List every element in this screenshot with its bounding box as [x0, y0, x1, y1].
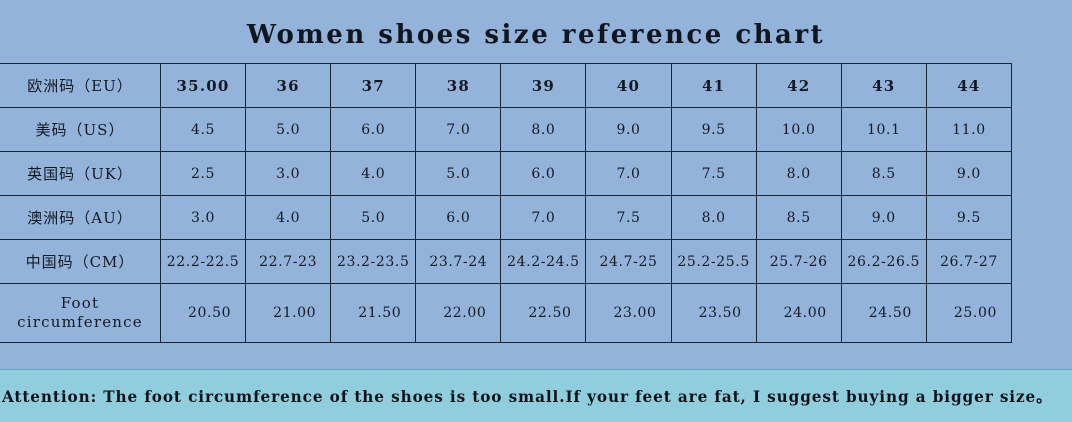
cell-uk-7: 7.5 [671, 152, 756, 196]
cell-au-10: 9.5 [926, 196, 1011, 240]
attention-notice-bar: Attention: The foot circumference of the… [0, 369, 1072, 422]
cell-cm-2: 22.7-23 [246, 240, 331, 284]
cell-cm-3: 23.2-23.5 [331, 240, 416, 284]
cell-circ-9: 24.50 [841, 284, 926, 343]
cell-us-10: 11.0 [926, 108, 1011, 152]
row-label-us: 美码（US） [0, 108, 161, 152]
cell-uk-5: 6.0 [501, 152, 586, 196]
cell-cm-6: 24.7-25 [586, 240, 671, 284]
row-label-eu: 欧洲码（EU） [0, 64, 161, 108]
cell-us-1: 4.5 [161, 108, 246, 152]
cell-us-5: 8.0 [501, 108, 586, 152]
cell-cm-8: 25.7-26 [756, 240, 841, 284]
cell-eu-4: 38 [416, 64, 501, 108]
cell-eu-9: 43 [841, 64, 926, 108]
cell-circ-6: 23.00 [586, 284, 671, 343]
cell-au-7: 8.0 [671, 196, 756, 240]
cell-us-7: 9.5 [671, 108, 756, 152]
cell-us-4: 7.0 [416, 108, 501, 152]
cell-circ-10: 25.00 [926, 284, 1011, 343]
cell-cm-7: 25.2-25.5 [671, 240, 756, 284]
cell-cm-4: 23.7-24 [416, 240, 501, 284]
cell-au-4: 6.0 [416, 196, 501, 240]
cell-uk-3: 4.0 [331, 152, 416, 196]
row-label-cm: 中国码（CM） [0, 240, 161, 284]
cell-au-6: 7.5 [586, 196, 671, 240]
cell-uk-6: 7.0 [586, 152, 671, 196]
cell-circ-5: 22.50 [501, 284, 586, 343]
cell-au-9: 9.0 [841, 196, 926, 240]
cell-eu-2: 36 [246, 64, 331, 108]
cell-au-2: 4.0 [246, 196, 331, 240]
cell-eu-7: 41 [671, 64, 756, 108]
row-label-uk: 英国码（UK） [0, 152, 161, 196]
cell-circ-3: 21.50 [331, 284, 416, 343]
cell-eu-3: 37 [331, 64, 416, 108]
table-row-cm: 中国码（CM） 22.2-22.5 22.7-23 23.2-23.5 23.7… [0, 240, 1012, 284]
cell-us-9: 10.1 [841, 108, 926, 152]
cell-eu-10: 44 [926, 64, 1011, 108]
cell-au-5: 7.0 [501, 196, 586, 240]
table-row-foot-circumference: Foot circumference 20.50 21.00 21.50 22.… [0, 284, 1012, 343]
cell-cm-10: 26.7-27 [926, 240, 1011, 284]
cell-eu-5: 39 [501, 64, 586, 108]
cell-cm-9: 26.2-26.5 [841, 240, 926, 284]
cell-circ-4: 22.00 [416, 284, 501, 343]
cell-uk-2: 3.0 [246, 152, 331, 196]
cell-au-3: 5.0 [331, 196, 416, 240]
cell-us-6: 9.0 [586, 108, 671, 152]
row-label-foot-circumference: Foot circumference [0, 284, 161, 343]
table-row-eu: 欧洲码（EU） 35.00 36 37 38 39 40 41 42 43 44 [0, 64, 1012, 108]
cell-uk-8: 8.0 [756, 152, 841, 196]
cell-circ-2: 21.00 [246, 284, 331, 343]
cell-us-3: 6.0 [331, 108, 416, 152]
table-row-us: 美码（US） 4.5 5.0 6.0 7.0 8.0 9.0 9.5 10.0 … [0, 108, 1012, 152]
cell-us-8: 10.0 [756, 108, 841, 152]
cell-eu-8: 42 [756, 64, 841, 108]
cell-circ-7: 23.50 [671, 284, 756, 343]
size-reference-table: 欧洲码（EU） 35.00 36 37 38 39 40 41 42 43 44… [0, 63, 1012, 343]
cell-eu-6: 40 [586, 64, 671, 108]
table-row-uk: 英国码（UK） 2.5 3.0 4.0 5.0 6.0 7.0 7.5 8.0 … [0, 152, 1012, 196]
cell-cm-5: 24.2-24.5 [501, 240, 586, 284]
cell-circ-8: 24.00 [756, 284, 841, 343]
cell-uk-9: 8.5 [841, 152, 926, 196]
size-chart-page: Women shoes size reference chart 欧洲码（EU）… [0, 0, 1072, 422]
cell-eu-1: 35.00 [161, 64, 246, 108]
page-title: Women shoes size reference chart [0, 0, 1072, 63]
cell-uk-4: 5.0 [416, 152, 501, 196]
cell-au-1: 3.0 [161, 196, 246, 240]
cell-uk-10: 9.0 [926, 152, 1011, 196]
attention-notice-text: Attention: The foot circumference of the… [0, 385, 1052, 407]
cell-us-2: 5.0 [246, 108, 331, 152]
cell-uk-1: 2.5 [161, 152, 246, 196]
cell-cm-1: 22.2-22.5 [161, 240, 246, 284]
cell-circ-1: 20.50 [161, 284, 246, 343]
row-label-au: 澳洲码（AU） [0, 196, 161, 240]
cell-au-8: 8.5 [756, 196, 841, 240]
size-table-container: 欧洲码（EU） 35.00 36 37 38 39 40 41 42 43 44… [0, 63, 1072, 343]
table-row-au: 澳洲码（AU） 3.0 4.0 5.0 6.0 7.0 7.5 8.0 8.5 … [0, 196, 1012, 240]
